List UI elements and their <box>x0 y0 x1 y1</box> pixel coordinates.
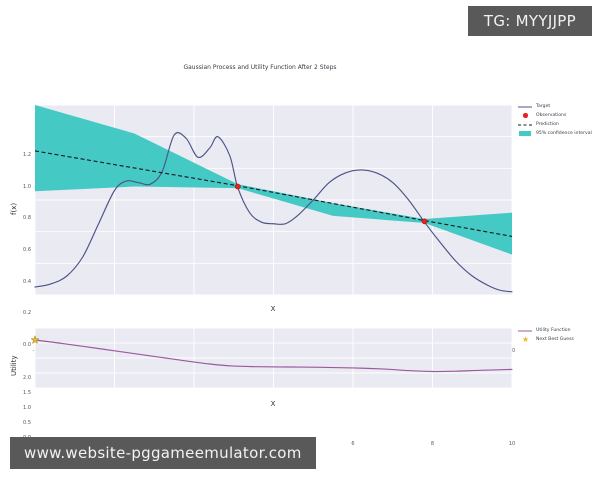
gaussian-process-panel <box>35 105 512 295</box>
target-line-icon <box>518 102 532 111</box>
plot-area-bottom <box>35 328 512 388</box>
y-tick: 0.6 <box>15 247 31 253</box>
y-tick: 1.2 <box>15 152 31 158</box>
y-tick: 0.4 <box>15 279 31 285</box>
x-tick: 10 <box>509 441 515 447</box>
plot-area-top <box>35 105 512 295</box>
screenshot-root: Gaussian Process and Utility Function Af… <box>0 0 600 480</box>
y-tick: 0.8 <box>15 215 31 221</box>
legend-item-confidence: 95% confidence interval <box>518 129 592 138</box>
y-axis-label-top: f(x) <box>10 203 18 215</box>
y-tick: 1.5 <box>15 390 31 396</box>
legend-item-observations: Observations <box>518 111 592 120</box>
y-axis-label-bottom: Utility <box>10 355 18 376</box>
figure-container: Gaussian Process and Utility Function Af… <box>0 50 600 430</box>
x-axis-label-top: X <box>271 305 276 313</box>
y-tick: 0.0 <box>15 342 31 348</box>
utility-function-panel <box>35 328 512 388</box>
legend-label-observations: Observations <box>536 113 566 118</box>
legend-item-prediction: Prediction <box>518 120 592 129</box>
legend-label-target: Target <box>536 104 550 109</box>
legend-label-utility-function: Utility Function <box>536 328 571 333</box>
legend-top: Target Observations Prediction 95% confi… <box>518 102 592 138</box>
x-tick: 8 <box>431 441 434 447</box>
y-tick: 1.0 <box>15 184 31 190</box>
legend-item-target: Target <box>518 102 592 111</box>
legend-item-utility-function: Utility Function <box>518 326 574 335</box>
legend-bottom: Utility Function ★ Next Best Guess <box>518 326 574 344</box>
confidence-band-patch-icon <box>518 129 532 138</box>
x-tick: 6 <box>351 441 354 447</box>
url-watermark-banner: www.website-pggameemulator.com <box>10 437 316 469</box>
y-tick: 0.2 <box>15 310 31 316</box>
legend-label-next-best-guess: Next Best Guess <box>536 337 574 342</box>
chart-title: Gaussian Process and Utility Function Af… <box>0 64 520 71</box>
legend-item-next-best-guess: ★ Next Best Guess <box>518 335 574 344</box>
y-tick: 0.5 <box>15 420 31 426</box>
star-icon: ★ <box>518 335 532 344</box>
legend-label-prediction: Prediction <box>536 122 559 127</box>
y-tick: 1.0 <box>15 405 31 411</box>
tag-banner: TG: MYYJJPP <box>468 6 592 36</box>
legend-label-confidence: 95% confidence interval <box>536 131 592 136</box>
utility-line-icon <box>518 326 532 335</box>
x-axis-label-bottom: X <box>271 400 276 408</box>
observation-dot-icon <box>518 111 532 120</box>
prediction-dashed-line-icon <box>518 120 532 129</box>
